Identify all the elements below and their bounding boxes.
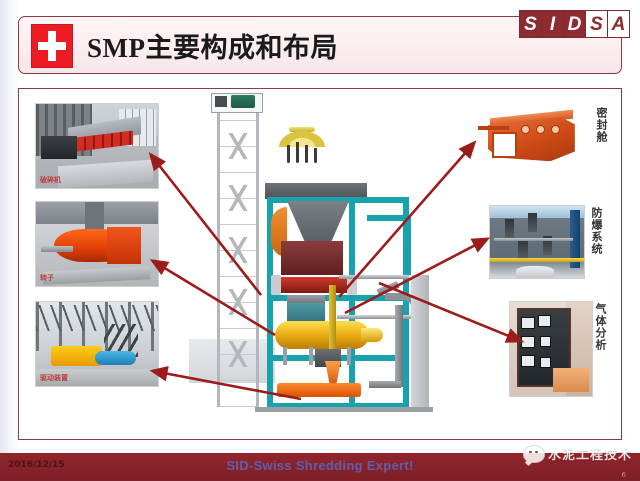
frame-column-mid (349, 197, 355, 409)
photo-3-caption: 驱动装置 (40, 373, 68, 383)
photo-4-scene (471, 105, 589, 181)
tower-brace-2 (220, 185, 256, 211)
watermark-text: 水泥工程技术 (548, 444, 632, 463)
p1-floor (58, 159, 153, 187)
p5-tank (516, 266, 554, 278)
photo-2-caption: 转子 (40, 273, 54, 283)
machine-leg-3 (347, 347, 351, 365)
photo-5-scene (490, 206, 584, 278)
diagram-ground-line (255, 407, 433, 412)
photo-orange-rotor-mill: 转子 (35, 201, 159, 287)
machine-leg-2 (309, 347, 313, 365)
p2-column (85, 202, 105, 231)
claw-finger-4 (314, 148, 317, 163)
hoist-tower (217, 107, 259, 407)
smp-layout-diagram (189, 89, 439, 440)
p4-access-hatch (492, 132, 517, 157)
photo-gas-analysis (509, 301, 593, 397)
p5-pipe (494, 238, 573, 241)
page-title: SMP主要构成和布局 (87, 26, 338, 65)
frame-column-right (405, 215, 411, 275)
p6-gauge-1 (521, 317, 534, 329)
slide-root: SMP主要构成和布局 S I D S A 破碎机 (0, 0, 640, 481)
photo-2-scene (36, 202, 158, 286)
claw-finger-1 (287, 145, 290, 163)
label-explosion-proof-system: 防爆系统 (591, 207, 602, 255)
claw-finger-3 (305, 145, 308, 163)
photo-explosion-proof-system (489, 205, 585, 279)
p6-gauge-3 (521, 336, 534, 348)
hoist-control-box (215, 96, 227, 107)
tower-brace-1 (220, 133, 256, 159)
claw-body (279, 131, 325, 147)
p3-blue-shaft (95, 351, 136, 365)
tower-brace-4 (220, 289, 256, 315)
wechat-eye-left (529, 451, 532, 454)
hoist-motor (231, 95, 255, 108)
p6-orange-box (553, 368, 589, 392)
flag-cross-horizontal (38, 42, 66, 50)
photo-6-scene (510, 302, 592, 396)
photo-sealed-chamber (471, 105, 589, 181)
p4-bolt-2 (536, 125, 545, 134)
sidsa-letter-s1: S (520, 11, 542, 37)
vertical-drive-shaft (329, 285, 336, 355)
photo-shredder-feed-table: 破碎机 (35, 103, 159, 189)
label-gas-analysis: 气体分析 (595, 303, 606, 351)
p6-gauge-4 (540, 336, 552, 347)
p5-valve-3 (518, 239, 527, 258)
p2-orange-body (107, 227, 141, 264)
roller-bearing-left (271, 275, 281, 295)
wechat-eye-right (535, 451, 538, 454)
exhaust-pipe-horizontal (369, 381, 401, 388)
p1-dark-machine (41, 136, 78, 160)
slide-body: 破碎机 转子 驱动装置 (18, 88, 622, 440)
p5-yellow-rail (490, 258, 584, 262)
wechat-icon (524, 446, 544, 462)
sidsa-letter-a: A (608, 11, 629, 37)
exhaust-pipe-vertical (395, 305, 403, 387)
shredder-roller (277, 277, 349, 293)
main-machine-housing (287, 303, 325, 323)
tower-brace-3 (220, 237, 256, 263)
p4-bolt-1 (521, 125, 530, 134)
sidsa-logo: S I D S A (519, 10, 630, 38)
swiss-flag-icon (31, 24, 73, 68)
main-machine-outlet (361, 328, 383, 342)
label-sealed-chamber: 密封舱 (596, 107, 607, 143)
diagram-side-wall (411, 275, 429, 409)
p3-truss (36, 305, 158, 330)
p2-shaft (41, 246, 73, 253)
p5-valve-1 (505, 219, 514, 238)
p4-side-arm (478, 126, 509, 130)
watermark: 水泥工程技术 (524, 444, 632, 463)
p4-bolt-3 (551, 125, 560, 134)
discharge-conveyor (277, 383, 361, 397)
photo-1-caption: 破碎机 (40, 175, 61, 185)
upper-shredder (281, 241, 343, 275)
tower-brace-5 (220, 341, 256, 367)
p5-valve-2 (528, 213, 537, 232)
side-rod-upper (339, 275, 409, 279)
grab-claw (277, 127, 327, 163)
photo-yellow-blue-drive: 驱动装置 (35, 301, 159, 387)
p2-base (43, 266, 150, 284)
page-number: 6 (622, 471, 626, 479)
sidsa-letter-i: I (542, 11, 564, 37)
sidsa-letter-s2: S (586, 11, 608, 37)
sidsa-letter-d: D (564, 11, 586, 37)
machine-leg-1 (283, 347, 287, 365)
main-rotor-machine (275, 321, 369, 349)
p6-gauge-2 (538, 315, 551, 327)
p6-gauge-6 (540, 357, 552, 368)
claw-finger-2 (296, 142, 299, 163)
p6-gauge-5 (521, 355, 534, 367)
